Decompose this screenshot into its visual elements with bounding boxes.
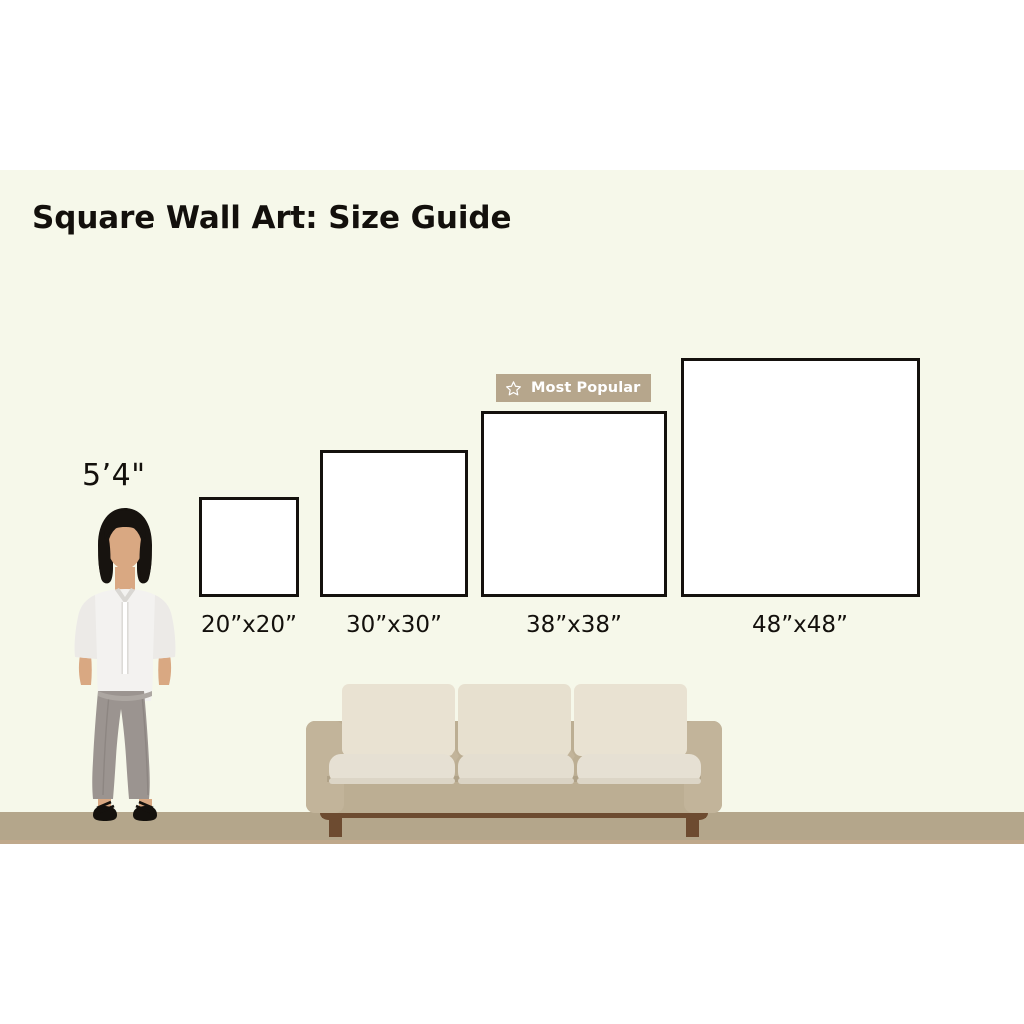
person-height-label: 5’4": [82, 458, 146, 493]
size-label-48: 48”x48”: [740, 612, 860, 638]
person-figure: [60, 505, 190, 823]
art-frame-38[interactable]: [481, 411, 667, 597]
art-frame-48[interactable]: [681, 358, 920, 597]
most-popular-badge[interactable]: Most Popular: [496, 374, 651, 402]
art-frame-30[interactable]: [320, 450, 468, 597]
floor-edge-line: [0, 840, 1024, 844]
size-label-38: 38”x38”: [514, 612, 634, 638]
art-frame-20[interactable]: [199, 497, 299, 597]
most-popular-badge-label: Most Popular: [531, 380, 640, 396]
size-guide-infographic: Square Wall Art: Size Guide 5’4": [0, 0, 1024, 1024]
page-title: Square Wall Art: Size Guide: [32, 200, 511, 236]
sofa-illustration: [284, 666, 744, 838]
size-label-30: 30”x30”: [334, 612, 454, 638]
star-icon: [505, 380, 522, 397]
size-label-20: 20”x20”: [189, 612, 309, 638]
